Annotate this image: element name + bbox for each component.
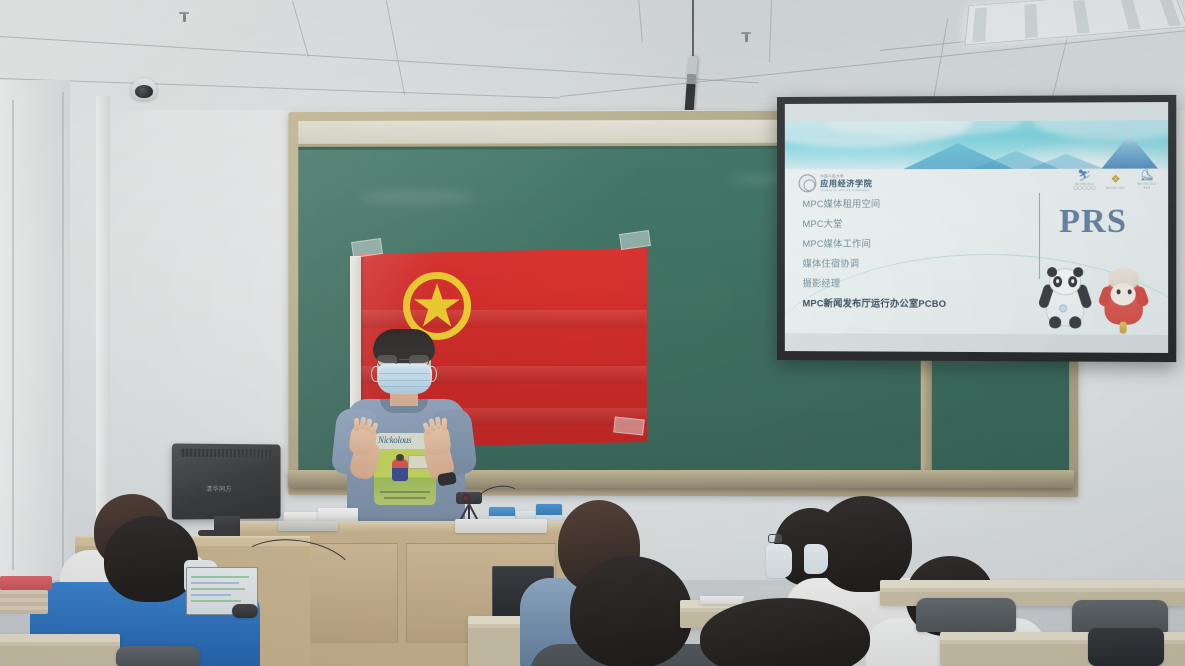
monitor-vent [180,449,271,458]
slide-header-band [785,120,1168,169]
student-desk [0,634,120,666]
university-seal-icon [799,174,817,192]
tshirt-character [392,459,408,481]
dome-camera [131,78,157,100]
mascot-leg [1069,316,1081,328]
paralympic-agitos-icon: ◗◗◗ [1136,186,1158,190]
header-wave [1033,120,1168,141]
student-face-mask [804,544,828,574]
monitor-brand-label: 清华同方 [206,484,232,493]
torch-icon: ❖ [1104,175,1126,186]
mascot-nose [1055,283,1060,287]
slide-bullet: MPC媒体租用空间 [803,199,947,209]
tshirt-text-line [384,497,426,499]
light-louver [1158,0,1181,26]
mascot-eye [1128,289,1132,294]
projection-screen: 中国人民大学 应用经济学院 SCHOOL OF APPLIED ECONOMIC… [777,95,1176,362]
left-wall-panel [0,80,70,580]
mascot-ear [1073,267,1083,277]
chair-back [116,646,200,666]
screen-surface: 中国人民大学 应用经济学院 SCHOOL OF APPLIED ECONOMIC… [785,102,1168,353]
light-louver [1073,0,1090,34]
wall-pilaster [96,96,110,526]
presenter-face-mask [377,364,432,394]
olympic-emblem: ⛷ BEIJING 2022 ◯◯◯◯◯ [1073,171,1095,190]
laptop-screen-row [191,588,245,590]
laptop-screen-row [191,600,241,602]
paper-stack [318,508,358,522]
paper-sheet [700,596,744,604]
tshirt-text-line [380,491,430,493]
olympic-emblems: ⛷ BEIJING 2022 ◯◯◯◯◯ ❖ BEIJING 2022 ⛸ BE… [1073,171,1158,190]
laptop-screen-row [191,582,239,584]
mouse [232,604,258,618]
finger [354,418,359,431]
chalk-smudge [358,189,477,205]
school-name-en: SCHOOL OF APPLIED ECONOMICS [820,189,872,192]
control-box [278,521,338,531]
presenter-hand-left [348,423,378,456]
school-name-cn: 应用经济学院 [820,179,872,189]
school-logo: 中国人民大学 应用经济学院 SCHOOL OF APPLIED ECONOMIC… [799,174,873,192]
light-louver [1024,4,1038,38]
glasses-bridge [399,359,409,360]
slide-bullet: MPC大堂 [803,219,947,228]
supply-box [0,576,52,590]
mascot-tassel [1120,322,1127,334]
mask-pleat [379,380,430,381]
wall-corner-edge [12,100,14,570]
mascot-leg [1049,316,1061,328]
olympic-emblem-caption: BEIJING 2022 [1104,187,1126,190]
mascot-shuey-rhon-rhon [1101,266,1145,331]
skier-icon: ⛷ [1073,171,1095,182]
desktop-monitor: 清华同方 [172,444,282,519]
wall-corner-edge [62,92,64,572]
student-glasses [768,534,782,543]
chair-back [916,598,1016,632]
keyboard [455,519,547,533]
olympic-rings-icon: ◯◯◯◯◯ [1073,186,1095,190]
tape-strip [613,416,645,435]
presentation-slide: 中国人民大学 应用经济学院 SCHOOL OF APPLIED ECONOMIC… [785,120,1168,335]
light-louver [1121,0,1141,30]
mascot-eye [1117,289,1121,294]
slide-bullet: MPC媒体工作间 [803,239,947,248]
microphone-cable [692,0,694,58]
mask-pleat [379,386,430,387]
mask-pleat [379,373,430,374]
mascot-bing-dwen-dwen [1041,266,1089,328]
mascot-eye [1068,276,1077,287]
sprinkler-head [178,12,190,24]
mascot-face [1110,283,1135,305]
finger [442,418,447,431]
flag-fold [357,310,647,328]
olympic-emblem: ❖ BEIJING 2022 [1104,175,1126,190]
laptop-screen-row [191,594,231,596]
backpack [1088,628,1164,666]
sprinkler-head [740,32,752,44]
light-louver [972,8,987,43]
mascot-badge [1059,304,1067,312]
student-head [816,496,912,592]
camera-lens [462,494,470,502]
laptop-screen-row [191,576,249,578]
olympic-emblem: ⛸ BEIJING 2022 ◗◗◗ [1136,171,1158,190]
slide-side-title: PRS [1059,205,1127,239]
student-face-mask [766,544,792,578]
classroom-photo-scene: 中国人民大学 应用经济学院 SCHOOL OF APPLIED ECONOMIC… [0,0,1185,666]
student-head [570,556,692,666]
skater-icon: ⛸ [1136,171,1158,182]
supply-box [0,590,48,614]
monitor-rear-panel: 清华同方 [172,443,281,519]
tshirt-script-text: Nickolous [378,435,411,445]
